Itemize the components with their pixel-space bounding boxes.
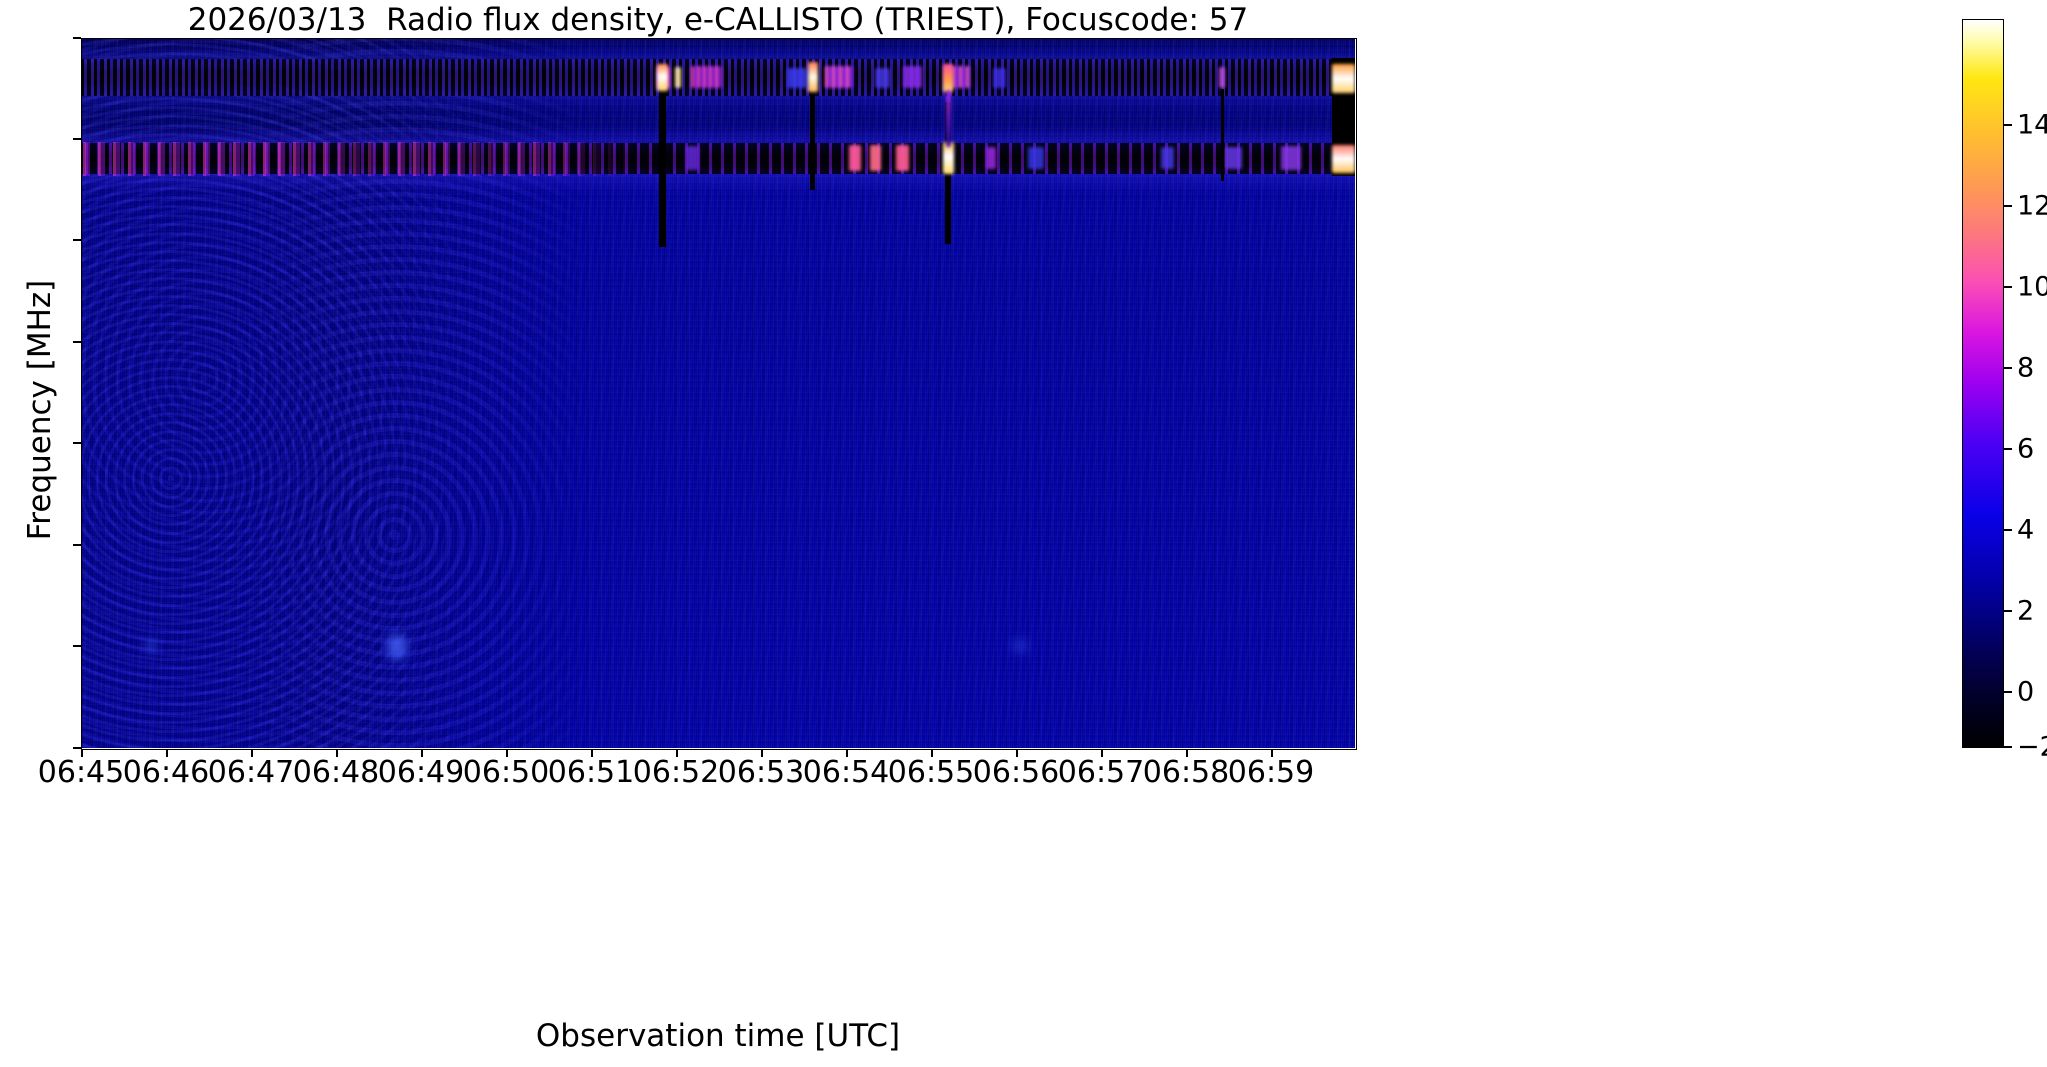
xtick-label-0653: 06:53 <box>718 756 804 790</box>
xtick-label-0645: 06:45 <box>38 756 124 790</box>
xtick-label-0654: 06:54 <box>803 756 889 790</box>
xtick-label-0659: 06:59 <box>1228 756 1314 790</box>
cbtick-label-14: 14 <box>2017 112 2047 139</box>
colorbar: 14 12 10 8 6 4 2 0 −2 <box>1962 19 2004 748</box>
cbtick-label-2: 2 <box>2017 598 2034 625</box>
cbtick-mark-2 <box>2004 610 2012 612</box>
x-axis-label: Observation time [UTC] <box>81 1018 1355 1054</box>
xtick-label-0652: 06:52 <box>633 756 719 790</box>
cbtick-mark-6 <box>2004 448 2012 450</box>
xtick-label-0658: 06:58 <box>1143 756 1229 790</box>
chart-title: 2026/03/13 Radio flux density, e-CALLIST… <box>0 2 1436 38</box>
figure-canvas: 2026/03/13 Radio flux density, e-CALLIST… <box>0 0 2047 1067</box>
cbtick-mark-10 <box>2004 286 2012 288</box>
ytick-mark-70 <box>73 239 81 241</box>
rfi-band-79mhz <box>81 59 1355 96</box>
ytick-mark-60 <box>73 442 81 444</box>
cbtick-label-0: 0 <box>2017 679 2034 706</box>
xtick-label-0649: 06:49 <box>378 756 464 790</box>
xtick-label-0657: 06:57 <box>1058 756 1144 790</box>
rfi-band-75mhz-emission <box>81 142 1355 176</box>
spectrogram-image <box>81 38 1355 748</box>
cbtick-label-10: 10 <box>2017 274 2047 301</box>
cbtick-label-6: 6 <box>2017 436 2034 463</box>
colorbar-gradient <box>1962 19 2004 748</box>
cbtick-label-minus2: −2 <box>2017 734 2047 761</box>
cbtick-mark-minus2 <box>2004 746 2012 748</box>
ytick-mark-80 <box>73 37 81 39</box>
cbtick-label-8: 8 <box>2017 355 2034 382</box>
ytick-mark-65 <box>73 341 81 343</box>
xtick-label-0651: 06:51 <box>548 756 634 790</box>
ytick-mark-50 <box>73 645 81 647</box>
xtick-label-0646: 06:46 <box>123 756 209 790</box>
y-axis-label: Frequency [MHz] <box>23 55 57 765</box>
cbtick-mark-4 <box>2004 529 2012 531</box>
cbtick-mark-12 <box>2004 205 2012 207</box>
xtick-label-0650: 06:50 <box>463 756 549 790</box>
ytick-mark-75 <box>73 138 81 140</box>
cbtick-mark-8 <box>2004 367 2012 369</box>
xtick-label-0656: 06:56 <box>973 756 1059 790</box>
cbtick-label-4: 4 <box>2017 517 2034 544</box>
xtick-label-0655: 06:55 <box>888 756 974 790</box>
xtick-label-0647: 06:47 <box>208 756 294 790</box>
ytick-mark-55 <box>73 544 81 546</box>
cbtick-mark-14 <box>2004 124 2012 126</box>
cbtick-mark-0 <box>2004 691 2012 693</box>
ytick-mark-45 <box>73 747 81 749</box>
cbtick-label-12: 12 <box>2017 193 2047 220</box>
xtick-label-0648: 06:48 <box>293 756 379 790</box>
